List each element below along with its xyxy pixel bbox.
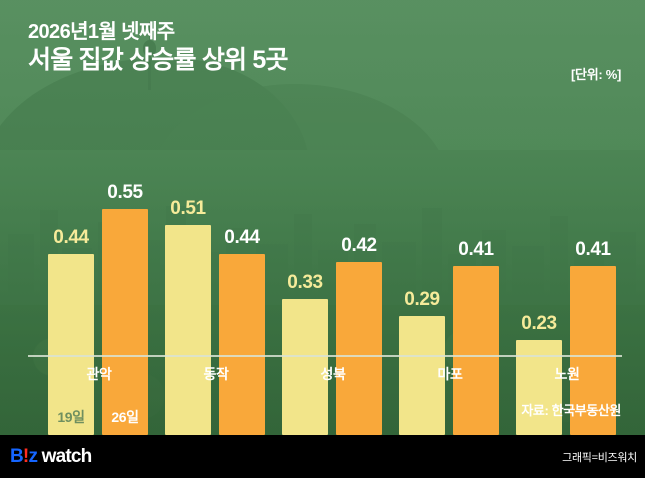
category-label-5: 노원 <box>516 364 618 384</box>
series-label-prev: 19일 <box>57 407 84 427</box>
category-label-4: 마포 <box>399 364 501 384</box>
graphic-credit: 그래픽=비즈워치 <box>562 449 637 465</box>
bar-curr-2[interactable]: 0.44 <box>219 254 265 435</box>
bizwatch-logo[interactable]: B!z watch <box>10 446 92 467</box>
bar-value-label: 0.44 <box>224 227 259 249</box>
bar-value-label: 0.29 <box>404 289 439 311</box>
logo-letter-b: B <box>10 446 23 467</box>
bar-value-label: 0.55 <box>107 182 142 204</box>
bar-value-label: 0.41 <box>575 239 610 261</box>
bar-prev-2[interactable]: 0.51 <box>165 225 211 435</box>
title-line-1: 2026년1월 넷째주 <box>28 20 288 45</box>
title-line-2: 서울 집값 상승률 상위 5곳 <box>28 45 288 76</box>
bar-group-1: 0.44 19일 0.55 26일 <box>48 175 150 435</box>
logo-word-watch: watch <box>42 446 92 467</box>
logo-letter-z: z <box>28 446 37 467</box>
bar-prev-1[interactable]: 0.44 19일 <box>48 254 94 435</box>
bar-group-4: 0.29 0.41 <box>399 175 501 435</box>
bar-value-label: 0.23 <box>521 313 556 335</box>
category-label-1: 관악 <box>48 364 150 384</box>
bar-value-label: 0.41 <box>458 239 493 261</box>
baseline-axis <box>28 355 622 357</box>
bar-value-label: 0.51 <box>170 198 205 220</box>
bar-value-label: 0.44 <box>53 227 88 249</box>
bar-curr-3[interactable]: 0.42 <box>336 262 382 435</box>
series-label-curr: 26일 <box>111 407 138 427</box>
footer-bar: B!z watch 그래픽=비즈워치 <box>0 435 645 478</box>
bar-group-3: 0.33 0.42 <box>282 175 384 435</box>
bar-group-5: 0.23 0.41 <box>516 175 618 435</box>
page-title: 2026년1월 넷째주 서울 집값 상승률 상위 5곳 <box>28 20 288 76</box>
category-label-3: 성북 <box>282 364 384 384</box>
source-note: 자료: 한국부동산원 <box>521 400 621 419</box>
bar-curr-4[interactable]: 0.41 <box>453 266 499 435</box>
unit-label: [단위: %] <box>571 64 621 83</box>
bar-value-label: 0.42 <box>341 235 376 257</box>
bar-group-2: 0.51 0.44 <box>165 175 267 435</box>
infographic-root: 2026년1월 넷째주 서울 집값 상승률 상위 5곳 [단위: %] 0.44… <box>0 0 645 478</box>
bar-value-label: 0.33 <box>287 272 322 294</box>
category-label-2: 동작 <box>165 364 267 384</box>
bar-curr-1[interactable]: 0.55 26일 <box>102 209 148 435</box>
